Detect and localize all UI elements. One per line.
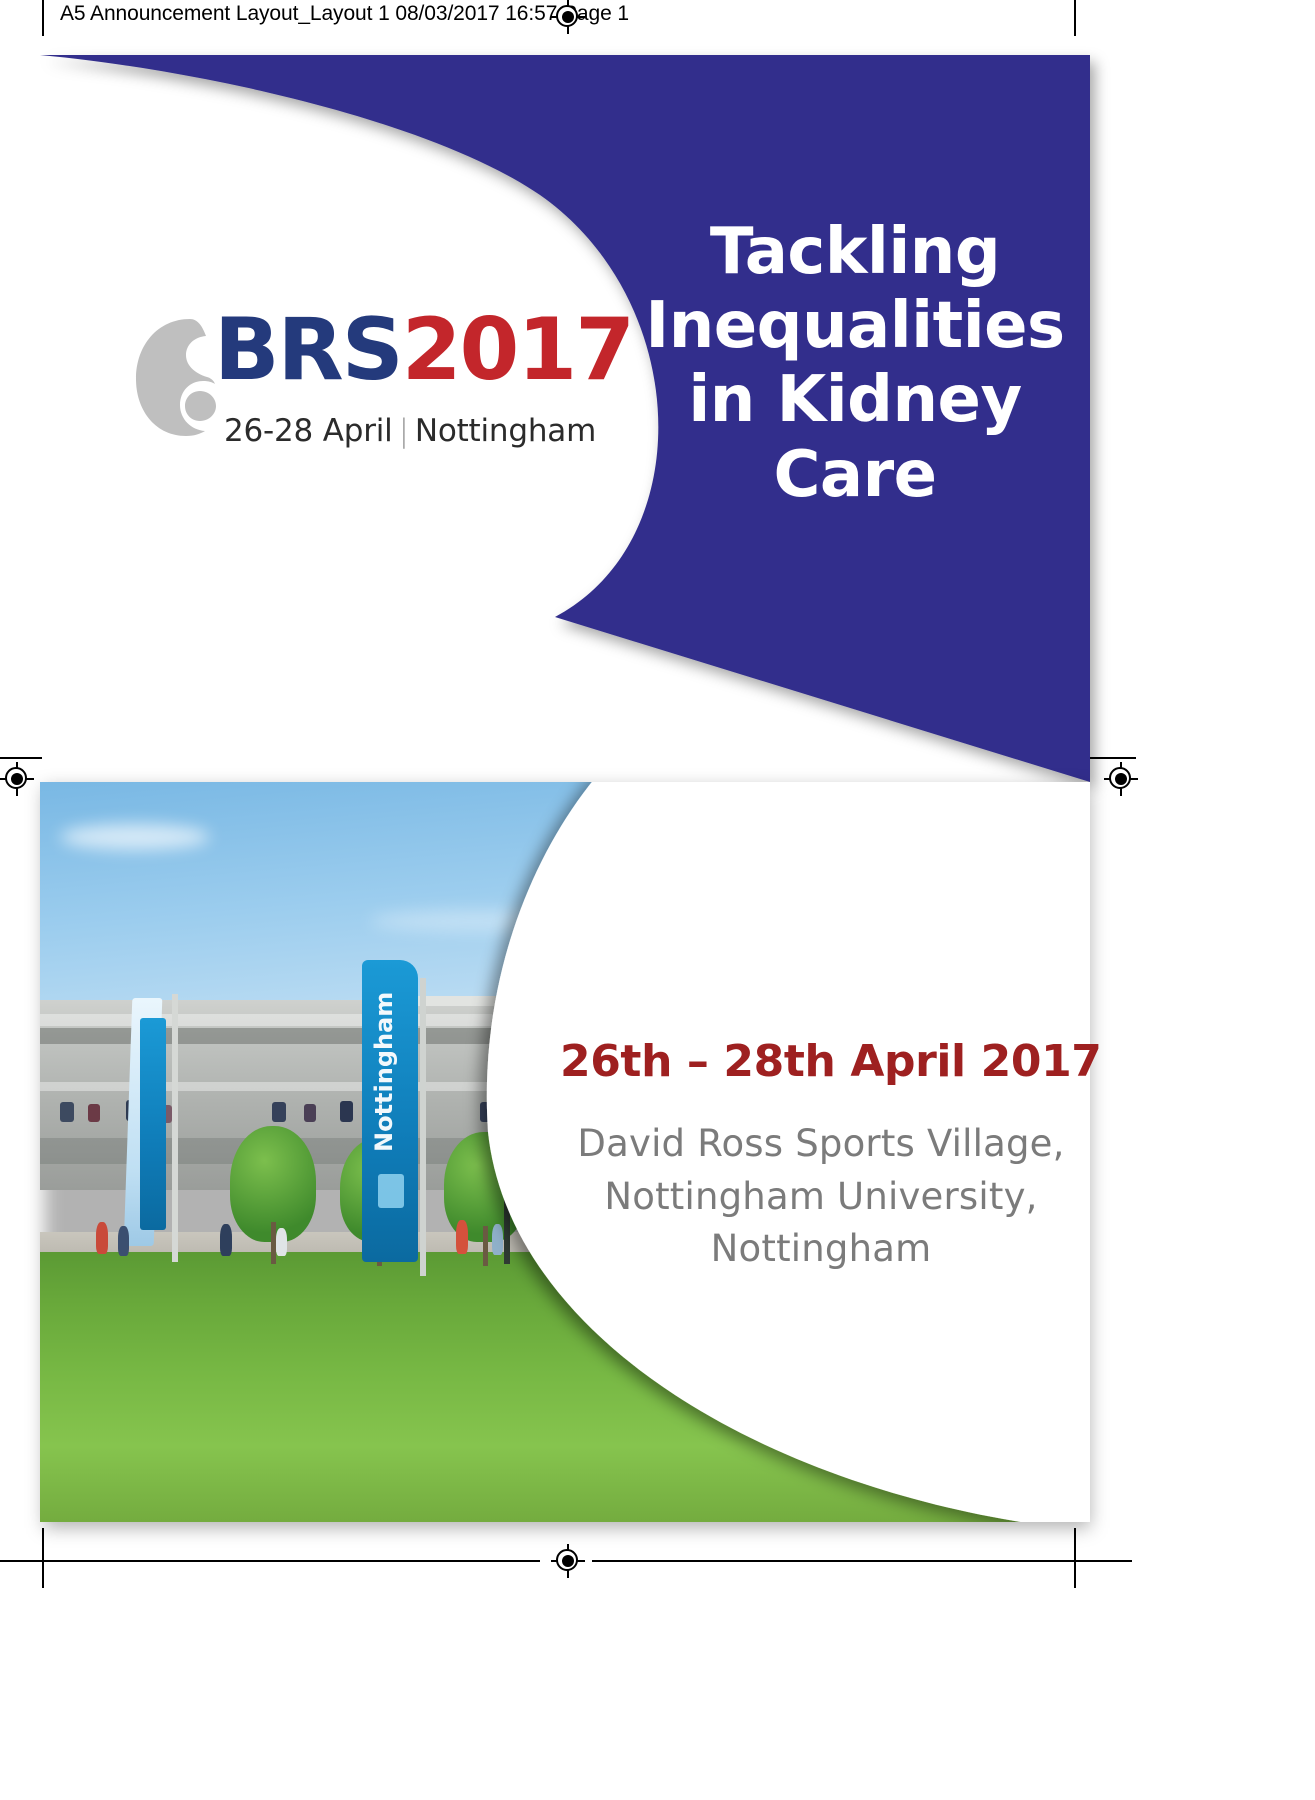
brs-logo-wordmark: BRS2017	[214, 307, 633, 393]
headline-line-1: Tackling	[645, 215, 1065, 289]
brs-logo-subtitle: 26-28 April|Nottingham	[224, 413, 596, 449]
venue-line-3: Nottingham	[556, 1223, 1086, 1276]
headline-line-2: Inequalities	[645, 289, 1065, 363]
headline-line-3: in Kidney	[645, 363, 1065, 437]
logo-sub-divider: |	[393, 413, 415, 449]
logo-sub-dates: 26-28 April	[224, 413, 393, 449]
kidney-mark-icon	[128, 315, 224, 440]
venue-line-2: Nottingham University,	[556, 1171, 1086, 1224]
brs-logo-text: BRS	[214, 300, 402, 400]
venue-line-1: David Ross Sports Village,	[556, 1118, 1086, 1171]
event-venue: David Ross Sports Village, Nottingham Un…	[556, 1118, 1086, 1276]
brs-logo-year: 2017	[402, 300, 633, 400]
crop-mark-bottom-h	[0, 1560, 540, 1562]
brs-logo: BRS2017 26-28 April|Nottingham	[128, 305, 528, 465]
registration-mark-bottom	[551, 1544, 585, 1578]
event-headline: Tackling Inequalities in Kidney Care	[645, 215, 1065, 512]
event-dates: 26th – 28th April 2017	[560, 1036, 1080, 1087]
logo-sub-city: Nottingham	[415, 413, 596, 449]
crop-mark-bottom-left-v	[42, 1528, 44, 1588]
crop-mark-bottom-h2	[592, 1560, 1132, 1562]
crop-mark-bottom-right-v	[1074, 1528, 1076, 1588]
headline-line-4: Care	[645, 438, 1065, 512]
